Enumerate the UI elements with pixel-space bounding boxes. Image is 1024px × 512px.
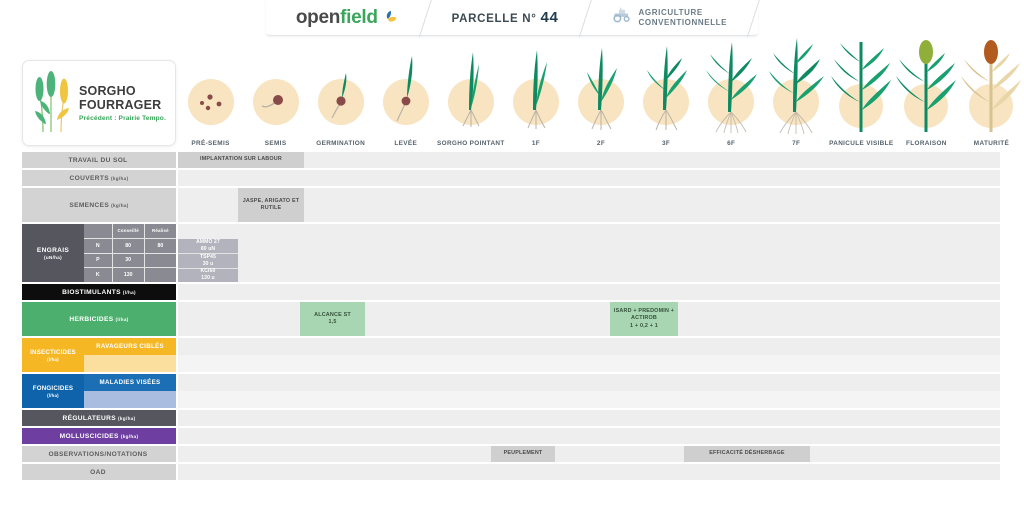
cell-text-2: ACTIROB [631,315,657,322]
row-label-engrais: ENGRAIS (uN/ha) [22,224,84,282]
one-leaf-icon [500,40,572,132]
growth-stage-three-leaf[interactable]: 3F [634,44,699,148]
cell-text-2: 1,5 [328,319,336,326]
timeline-cell[interactable]: EFFICACITÉ DÉSHERBAGE [684,446,810,462]
row-label-text: SEMENCES [69,202,109,209]
crop-card[interactable]: SORGHO FOURRAGER Précédent : Prairie Tem… [22,60,176,146]
row-label-text: OBSERVATIONS/NOTATIONS [48,451,147,458]
growth-stage-soil-seeds[interactable]: PRÉ-SEMIS [178,44,243,148]
row-sublabel-maladies-value[interactable] [84,391,176,408]
row-track-molluscicides[interactable] [178,428,1000,444]
engrais-conseille[interactable]: 80 [112,239,144,253]
header-divider-3 [753,0,754,36]
engrais-product-cell[interactable]: TSP45 30 u [178,253,238,268]
row-track-insecticides[interactable] [178,338,1000,372]
growth-stage-label: GERMINATION [316,140,365,147]
row-track-fongicides[interactable] [178,374,1000,408]
logo-text-field: field [340,7,378,28]
germination-icon [305,40,377,132]
engrais-product-name: AMMO 27 [196,239,220,246]
growth-stage-label: SEMIS [265,140,287,147]
row-label-text: OAD [90,469,106,476]
growth-stage-label: FLORAISON [906,140,947,147]
engrais-header-row: ConseilléRéalisé [84,224,176,238]
row-label-unit: (l/ha) [47,357,59,362]
row-couverts: COUVERTS(kg/ha) [0,170,1024,186]
row-track-semences[interactable]: JASPE, ARIGATO ETRUTILE [178,188,1000,222]
pointing-icon [435,40,507,132]
timeline-cell[interactable]: PEUPLEMENT [491,446,555,462]
engrais-element: N [84,239,112,253]
row-track-travail-du-sol[interactable]: IMPLANTATION SUR LABOUR [178,152,1000,168]
maturity-icon [955,40,1024,132]
leaf-mark-icon [382,9,399,26]
emergence-icon [370,40,442,132]
fongicides-track-top[interactable] [178,374,1000,391]
row-label-text: TRAVAIL DU SOL [68,157,127,164]
insecticides-track-top[interactable] [178,338,1000,355]
growth-stage-six-leaf[interactable]: 6F [699,44,764,148]
panicle-visible-icon [825,40,897,132]
flowering-icon [890,40,962,132]
row-label-text: HERBICIDES [69,316,113,323]
row-label-text: BIOSTIMULANTS [62,289,121,296]
row-track-observations[interactable]: PEUPLEMENTEFFICACITÉ DÉSHERBAGE [178,446,1000,462]
engrais-conseille[interactable]: 30 [112,254,144,268]
growth-stage-one-leaf[interactable]: 1F [503,44,568,148]
timeline-cell[interactable]: ALCANCE ST1,5 [300,302,365,336]
row-label-herbicides[interactable]: HERBICIDES(l/ha) [22,302,176,336]
row-track-biostimulants[interactable] [178,284,1000,300]
engrais-element: P [84,254,112,268]
parcelle-number: 44 [540,9,558,26]
row-herbicides: HERBICIDES(l/ha) ALCANCE ST1,5ISARD + PR… [0,302,1024,336]
engrais-row[interactable]: P 30 [84,253,176,268]
row-label-molluscicides[interactable]: MOLLUSCICIDES(kg/ha) [22,428,176,444]
row-track-herbicides[interactable]: ALCANCE ST1,5ISARD + PREDOMIN +ACTIROB1 … [178,302,1000,336]
growth-stage-emergence[interactable]: LEVÉE [373,44,438,148]
row-fongicides: FONGICIDES (l/ha) MALADIES VISÉES [0,374,1024,408]
growth-stage-label: 2F [597,140,605,147]
insecticides-label-block[interactable]: INSECTICIDES (l/ha) RAVAGEURS CIBLÉS [22,338,176,372]
row-label-insecticides: INSECTICIDES (l/ha) [22,338,84,372]
engrais-conseille[interactable]: 130 [112,268,144,282]
itinerary-rows: TRAVAIL DU SOL IMPLANTATION SUR LABOUR C… [0,152,1024,482]
engrais-product-name: TSP45 [200,254,216,261]
parcelle-indicator[interactable]: PARCELLE N° 44 [426,0,585,36]
growth-stage-label: PANICULE VISIBLE [829,140,893,147]
row-track-oad[interactable] [178,464,1000,480]
engrais-product-dose: 80 uN [201,246,215,253]
growth-stage-pointing[interactable]: SORGHO POINTANT [438,44,503,148]
agriculture-line-2: CONVENTIONNELLE [639,18,728,27]
six-leaf-icon [695,40,767,132]
row-track-couverts[interactable] [178,170,1000,186]
cell-text-3: 1 + 0,2 + 1 [630,323,658,330]
growth-stage-flowering[interactable]: FLORAISON [894,44,959,148]
timeline-cell[interactable]: IMPLANTATION SUR LABOUR [178,152,304,168]
soil-seeds-icon [175,40,247,132]
row-label-unit: (l/ha) [47,393,59,398]
engrais-col-header [84,224,112,238]
row-oad: OAD [0,464,1024,480]
row-insecticides: INSECTICIDES (l/ha) RAVAGEURS CIBLÉS [0,338,1024,372]
engrais-realise[interactable] [144,268,176,282]
row-label-text: MOLLUSCICIDES [60,433,119,440]
engrais-row[interactable]: N 80 80 [84,238,176,253]
tractor-icon [612,7,632,28]
sorgho-fourrager-itinerary-sheet: openfield PARCELLE N° 44 [0,0,1024,512]
growth-stage-maturity[interactable]: MATURITÉ [959,44,1024,148]
row-label-text: INSECTICIDES [30,349,76,356]
two-leaf-icon [565,40,637,132]
cell-text-1: IMPLANTATION SUR LABOUR [200,156,282,163]
row-semences: SEMENCES(kg/ha) JASPE, ARIGATO ETRUTILE [0,188,1024,222]
cell-text-1: ISARD + PREDOMIN + [614,308,674,315]
row-label-text: ENGRAIS [37,247,69,254]
row-label-text: RÉGULATEURS [62,415,116,422]
row-engrais: ENGRAIS (uN/ha) ConseilléRéaliséN 80 80P… [0,224,1024,282]
engrais-row[interactable]: K 130 [84,267,176,282]
brand-logo[interactable]: openfield [270,0,425,36]
crop-previous-culture: Précédent : Prairie Tempo. [79,115,167,122]
engrais-table: ConseilléRéaliséN 80 80P 30 K 130 [84,224,176,282]
growth-stage-label: MATURITÉ [974,140,1009,147]
header-bar: openfield PARCELLE N° 44 [266,0,758,36]
growth-stage-two-leaf[interactable]: 2F [568,44,633,148]
growth-stage-label: 3F [662,140,670,147]
engrais-realise[interactable]: 80 [144,239,176,253]
insecticides-track-bottom[interactable] [178,355,1000,372]
engrais-element: K [84,268,112,282]
agriculture-line-1: AGRICULTURE [639,8,703,17]
growth-stage-label: 7F [792,140,800,147]
crop-title-line-2: FOURRAGER [79,98,167,112]
row-sublabel-maladies-visees: MALADIES VISÉES [84,374,176,391]
engrais-product-cell[interactable]: AMMO 27 80 uN [178,239,238,254]
cell-text-1: PEUPLEMENT [504,450,543,457]
row-label-observations[interactable]: OBSERVATIONS/NOTATIONS [22,446,176,462]
crop-title-line-1: SORGHO [79,84,167,98]
growth-stage-strip: PRÉ-SEMIS SEMIS GERMINATION LEVÉE [178,44,1024,148]
parcelle-label: PARCELLE N° [452,13,537,25]
engrais-product-dose: 130 u [201,275,215,282]
row-sublabel-ravageurs-cibles: RAVAGEURS CIBLÉS [84,338,176,355]
cell-text-1: ALCANCE ST [314,312,351,319]
row-label-oad[interactable]: OAD [22,464,176,480]
row-sublabel-ravageurs-value[interactable] [84,355,176,372]
row-label-biostimulants[interactable]: BIOSTIMULANTS(l/ha) [22,284,176,300]
row-label-unit: (kg/ha) [111,203,129,208]
seven-leaf-icon [760,40,832,132]
row-label-semences[interactable]: SEMENCES(kg/ha) [22,188,176,222]
growth-stage-panicle-visible[interactable]: PANICULE VISIBLE [829,44,894,148]
row-molluscicides: MOLLUSCICIDES(kg/ha) [0,428,1024,444]
row-label-text: FONGICIDES [33,385,74,392]
three-leaf-icon [630,40,702,132]
row-label-regulateurs[interactable]: RÉGULATEURS(kg/ha) [22,410,176,426]
row-label-unit: (kg/ha) [111,176,129,181]
fongicides-label-block[interactable]: FONGICIDES (l/ha) MALADIES VISÉES [22,374,176,408]
row-regulateurs: RÉGULATEURS(kg/ha) [0,410,1024,426]
fongicides-track-bottom[interactable] [178,391,1000,408]
timeline-cell[interactable]: JASPE, ARIGATO ETRUTILE [238,188,304,222]
row-label-text: COUVERTS [70,175,109,182]
growth-stage-label: 6F [727,140,735,147]
row-label-unit: (l/ha) [116,317,129,322]
engrais-product-name: KCl60 [201,268,216,275]
growth-stage-label: 1F [532,140,540,147]
sorghum-ears-icon [31,70,75,136]
engrais-product-cells[interactable]: AMMO 27 80 uNTSP45 30 uKCl60 130 u [178,224,1000,282]
cell-text-1: JASPE, ARIGATO ET [243,198,300,205]
page-header: openfield PARCELLE N° 44 [0,0,1024,38]
growth-stage-germination[interactable]: GERMINATION [308,44,373,148]
growth-stage-label: PRÉ-SEMIS [191,140,229,147]
row-label-unit: (kg/ha) [121,434,139,439]
row-biostimulants: BIOSTIMULANTS(l/ha) [0,284,1024,300]
row-label-travail-du-sol[interactable]: TRAVAIL DU SOL [22,152,176,168]
row-label-unit: (l/ha) [123,290,136,295]
cell-text-1: EFFICACITÉ DÉSHERBAGE [709,450,784,457]
logo-text-open: open [296,7,340,28]
engrais-product-cell[interactable]: KCl60 130 u [178,268,238,283]
agriculture-type-indicator[interactable]: AGRICULTURE CONVENTIONNELLE [586,0,754,36]
growth-stage-seven-leaf[interactable]: 7F [764,44,829,148]
growth-stage-label: SORGHO POINTANT [437,140,505,147]
growth-stage-label: LEVÉE [394,140,417,147]
row-observations: OBSERVATIONS/NOTATIONS PEUPLEMENTEFFICAC… [0,446,1024,462]
row-label-unit: (uN/ha) [44,255,62,260]
seed-radicle-icon [240,40,312,132]
engrais-realise[interactable] [144,254,176,268]
growth-stage-seed-radicle[interactable]: SEMIS [243,44,308,148]
cell-text-2: RUTILE [261,205,282,212]
engrais-col-header: Conseillé [112,224,144,238]
engrais-label-block[interactable]: ENGRAIS (uN/ha) ConseilléRéaliséN 80 80P… [22,224,176,282]
row-label-fongicides: FONGICIDES (l/ha) [22,374,84,408]
row-label-unit: (kg/ha) [118,416,136,421]
row-label-couverts[interactable]: COUVERTS(kg/ha) [22,170,176,186]
row-track-regulateurs[interactable] [178,410,1000,426]
timeline-cell[interactable]: ISARD + PREDOMIN +ACTIROB1 + 0,2 + 1 [610,302,678,336]
row-travail-du-sol: TRAVAIL DU SOL IMPLANTATION SUR LABOUR [0,152,1024,168]
engrais-col-header: Réalisé [144,224,176,238]
